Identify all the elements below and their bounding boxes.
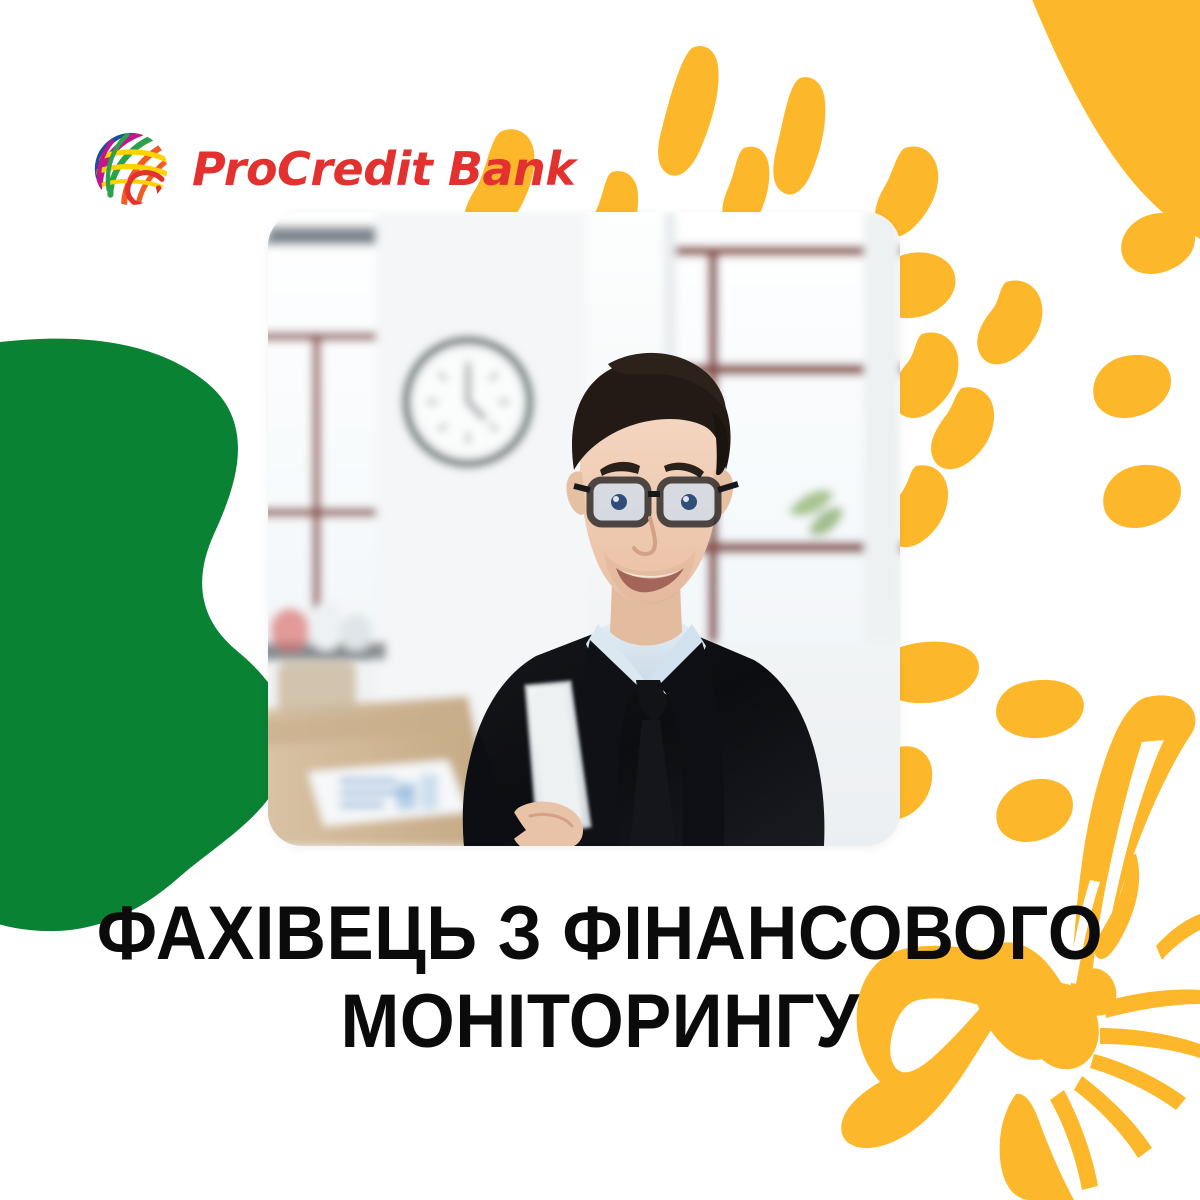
title-line-1: ФАХІВЕЦЬ З ФІНАНСОВОГО <box>42 890 1158 978</box>
poster-canvas: ProCredit Bank <box>0 0 1200 1200</box>
procredit-globe-icon <box>88 126 174 212</box>
green-blob-shape <box>0 339 289 932</box>
page-title: ФАХІВЕЦЬ З ФІНАНСОВОГО МОНІТОРИНГУ <box>0 890 1200 1066</box>
title-line-2: МОНІТОРИНГУ <box>42 978 1158 1066</box>
brand-name: ProCredit Bank <box>192 146 575 192</box>
brand-logo[interactable]: ProCredit Bank <box>88 126 575 212</box>
hero-photo <box>268 212 900 846</box>
orange-corner-wave-shape <box>1020 0 1200 258</box>
